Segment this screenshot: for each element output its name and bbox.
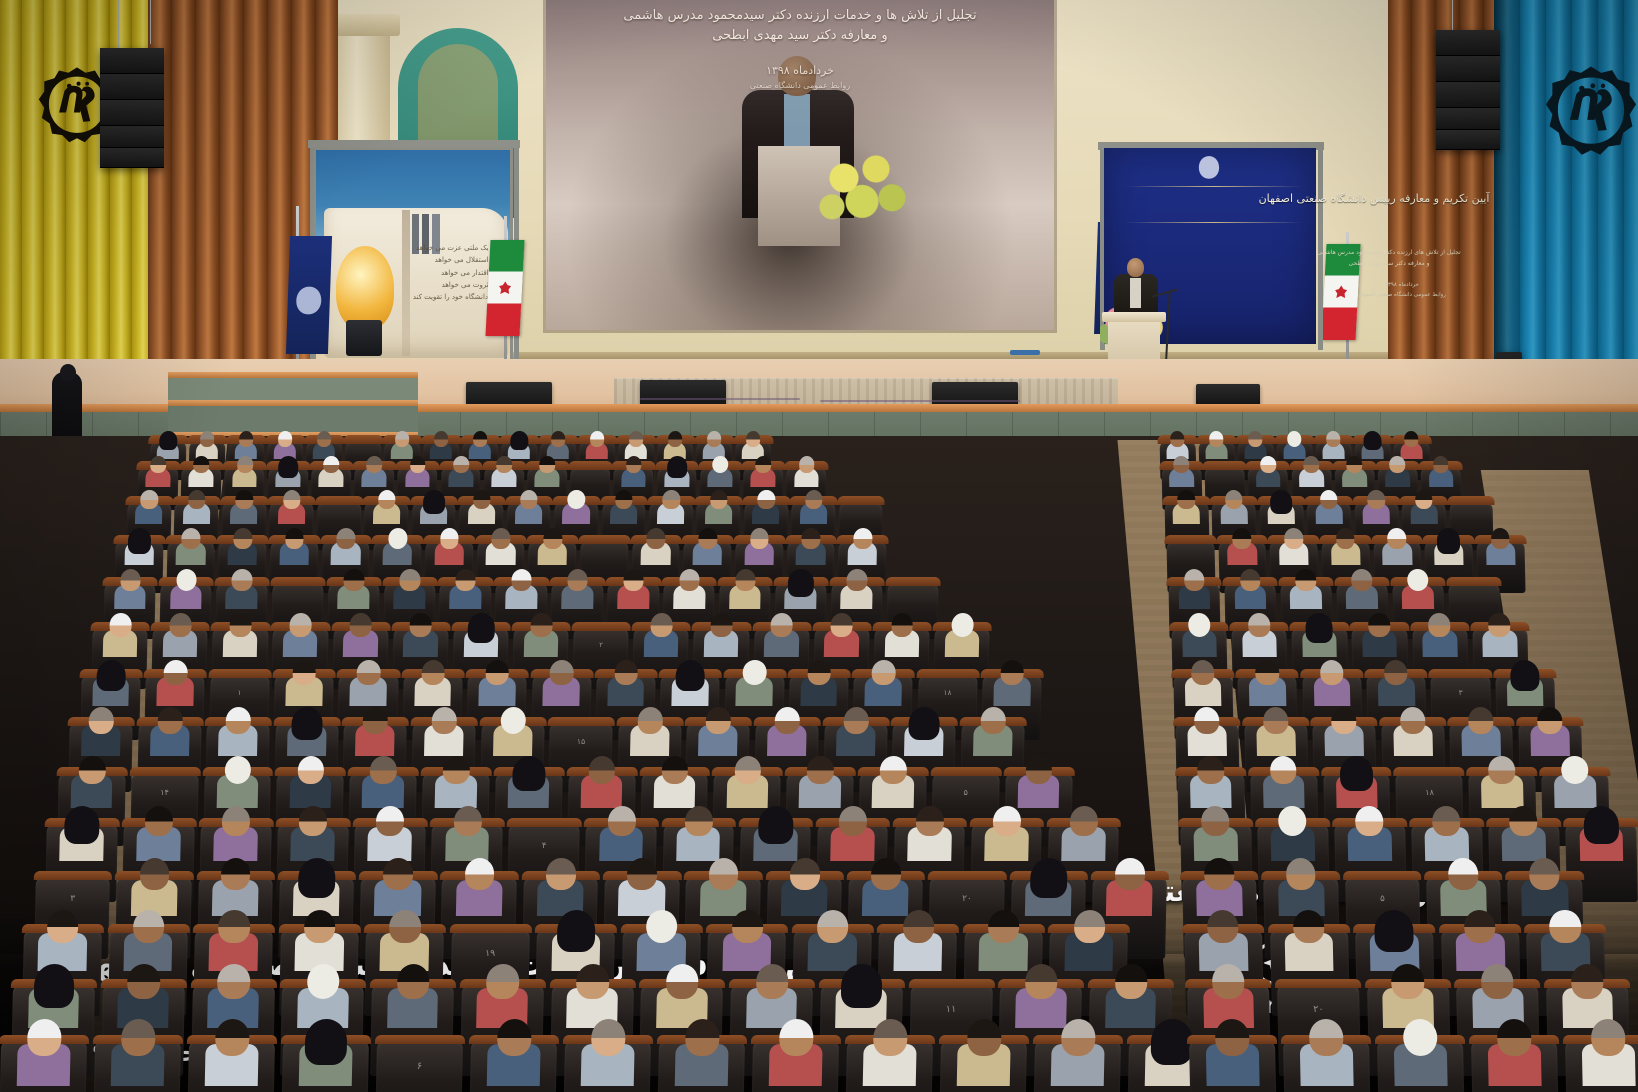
audience-member (515, 490, 543, 524)
audience-seat: ۴ (1377, 1040, 1465, 1092)
audience-member (905, 707, 945, 756)
audience-member-head (159, 431, 177, 450)
audience-member (124, 529, 154, 566)
audience-member (1267, 490, 1295, 524)
audience-member (283, 613, 318, 656)
audience-member-head (297, 755, 324, 784)
audience-seat: ۵ (1471, 1040, 1559, 1092)
audience-member-head (1367, 490, 1385, 509)
audience-member (92, 659, 130, 705)
audience-member (1196, 857, 1243, 915)
audience-member-head (871, 659, 895, 684)
audience-member-head (1308, 1019, 1343, 1056)
audience-member (1187, 707, 1227, 756)
audience-member-head (27, 1019, 62, 1056)
audience-member (214, 806, 259, 861)
audience-member (279, 529, 309, 566)
audience-member (319, 457, 344, 488)
audience-member (945, 613, 980, 656)
audience-member (434, 529, 464, 566)
audience-member (751, 457, 776, 488)
audience-member-head (1428, 613, 1450, 637)
banner-quote: اگر یک ملتی عزت می خواهد اگر استقلال می … (408, 242, 500, 303)
audience-member (505, 570, 538, 610)
audience-member (625, 431, 648, 459)
audience-member (785, 570, 818, 610)
audience-member-head (1061, 1019, 1096, 1056)
audience-member (1346, 570, 1379, 610)
seat-number: ۳ (1431, 688, 1490, 697)
stage-cable (820, 400, 1020, 402)
audience-member (380, 910, 430, 971)
audience-member (391, 431, 414, 459)
audience-member-head (615, 490, 633, 509)
audience-member-head (879, 755, 906, 784)
audience-member (653, 755, 695, 807)
audience-member (993, 659, 1031, 705)
audience-member (1248, 659, 1286, 705)
audience-member-head (588, 755, 615, 784)
audience-seat: ۲ (1189, 1040, 1277, 1092)
audience-member (183, 490, 211, 524)
audience-member (343, 613, 378, 656)
audience-member (780, 857, 827, 915)
audience-member (1578, 806, 1623, 861)
audience-member (204, 1019, 259, 1086)
audience-member (753, 806, 798, 861)
audience-member-head (1490, 529, 1509, 549)
audience-member (393, 570, 426, 610)
audience-member-head (1208, 910, 1240, 944)
audience-member (27, 964, 79, 1028)
audience-member-head (550, 659, 574, 684)
audience-member-head (789, 857, 819, 889)
quote-line: اگر استقلال می خواهد (408, 254, 500, 266)
audience-member (211, 857, 258, 915)
audience-member-head (1248, 431, 1263, 446)
audience-member (872, 755, 914, 807)
audience-seat: ۱۴ (751, 1040, 839, 1092)
audience-member (1227, 529, 1257, 566)
audience-member (799, 755, 841, 807)
stair-nosing (168, 372, 418, 378)
banner-lightbulb-base (346, 320, 382, 356)
audience-member (704, 613, 739, 656)
audience-member (467, 490, 495, 524)
audience-member-head (455, 570, 476, 592)
audience-member-head (1000, 659, 1024, 684)
audience-member-head (33, 964, 75, 1008)
audience-member (671, 659, 709, 705)
audience-member (16, 1019, 71, 1086)
audience-member-head (1436, 529, 1460, 554)
audience-member-head (840, 964, 882, 1008)
audience-member-head (306, 964, 339, 999)
audience-member-head (467, 613, 495, 643)
rigging-wire (1452, 0, 1453, 30)
audience-member (492, 457, 517, 488)
audience-member (848, 529, 878, 566)
seat-number: ۲۰ (929, 894, 1004, 904)
audience-member (216, 755, 258, 807)
speaker-shirt (1130, 278, 1141, 308)
audience-member (1424, 806, 1469, 861)
audience-member (1166, 431, 1189, 459)
seat-number: ۱۹ (451, 949, 530, 960)
seat-row: ۲۳۴۵۶ (1189, 1040, 1638, 1092)
audience-member (146, 457, 171, 488)
audience-member-head (1326, 431, 1341, 446)
audience-member (1455, 910, 1505, 971)
audience-member (862, 857, 909, 915)
seat-number: ۵ (1345, 894, 1420, 904)
audience-member-head (1489, 755, 1516, 784)
audience-member-head (831, 613, 853, 637)
audience-member (1409, 490, 1437, 524)
audience-member (586, 431, 609, 459)
audience-member (1017, 755, 1059, 807)
audience-member (561, 570, 594, 610)
audience-member-head (1278, 806, 1307, 836)
audience-member-head (486, 964, 519, 999)
projection-subtext: خردادماه ۱۳۹۸ روابط عمومی دانشگاه صنعتی (546, 62, 1054, 92)
audience-member (637, 910, 687, 971)
audience-member (835, 964, 887, 1028)
audience-member-head (711, 613, 733, 637)
audience-member (356, 707, 396, 756)
stair-nosing (168, 400, 418, 406)
audience-member (293, 857, 340, 915)
audience-member (110, 1019, 165, 1086)
audience-member-head (1529, 857, 1559, 889)
audience-member-head (356, 659, 380, 684)
audience-member-head (1115, 857, 1145, 889)
iranian-flag (485, 240, 524, 336)
audience-member-head (661, 755, 688, 784)
audience-seat: ۱۱ (469, 1040, 557, 1092)
audience-member (1530, 707, 1570, 756)
audience-member (1362, 490, 1390, 524)
audience-member (621, 457, 646, 488)
audience-member-head (627, 857, 657, 889)
audience-member-head (511, 570, 532, 592)
backdrop-divider (1126, 222, 1302, 223)
audience-member-head (805, 490, 823, 509)
audience-member-head (1590, 1019, 1625, 1056)
iut-gear-emblem-icon (1196, 154, 1222, 186)
audience-member-head (304, 910, 336, 944)
audience-member-head (473, 490, 491, 509)
audience-member (170, 570, 203, 610)
audience-member-head (1391, 964, 1424, 999)
audience-member-head (520, 490, 538, 509)
audience-member-head (651, 613, 673, 637)
audience-member (705, 490, 733, 524)
audience-member (1106, 857, 1153, 915)
audience-member-head (224, 755, 251, 784)
audience-member-head (235, 490, 253, 509)
audience-member-head (1209, 431, 1224, 446)
audience-member (493, 707, 533, 756)
audience-member-head (1510, 659, 1540, 691)
audience-member-head (817, 910, 849, 944)
audience-member-head (497, 1019, 532, 1056)
audience-member (404, 613, 439, 656)
seat-number: ۱۸ (918, 688, 977, 697)
audience-seat: ۴ (187, 1040, 275, 1092)
iut-gear-emblem-icon (1545, 62, 1637, 174)
audience-member (486, 529, 516, 566)
seat-number: ۱۵ (550, 737, 613, 746)
audience-member (278, 490, 306, 524)
audience-member-head (1255, 659, 1279, 684)
audience-member (1064, 910, 1114, 971)
audience-member (1104, 964, 1156, 1028)
audience-member (156, 659, 194, 705)
audience-member (287, 707, 327, 756)
seat-number: ۱ (210, 688, 269, 697)
podium-top (1102, 312, 1166, 322)
audience-member-head (512, 755, 546, 791)
audience-member (1393, 707, 1433, 756)
audience-member (1014, 964, 1066, 1028)
audience-member (1402, 570, 1435, 610)
audience-member-head (1270, 490, 1292, 513)
audience-member (864, 659, 902, 705)
audience-member (580, 1019, 635, 1086)
event-photograph: تجلیل از تلاش ها و خدمات ارزنده دکتر سید… (0, 0, 1638, 1092)
audience-member (176, 529, 206, 566)
audience-member-head (432, 707, 458, 734)
audience-member (1270, 806, 1315, 861)
audience-member-head (871, 857, 901, 889)
audience-member (674, 1019, 729, 1086)
audience-member (386, 964, 438, 1028)
line-array-speaker (1436, 30, 1500, 150)
backdrop-credit: روابط عمومی دانشگاه صنعتی اصفهان (1180, 290, 1624, 300)
audience-member-head (873, 1019, 908, 1056)
audience-member-head (685, 1019, 720, 1056)
audience-member-head (638, 707, 664, 734)
audience-member (767, 707, 807, 756)
audience-member-head (1177, 490, 1195, 509)
audience-member (157, 431, 180, 459)
audience-member (362, 457, 387, 488)
audience-member (1256, 457, 1281, 488)
speaker-head (1127, 258, 1144, 277)
seat-number: ۱۸ (1397, 788, 1464, 797)
audience-member (796, 529, 826, 566)
audience-member-head (1284, 529, 1303, 549)
audience-member (543, 659, 581, 705)
projection-line-1: تجلیل از تلاش ها و خدمات ارزنده دکتر سید… (576, 6, 1024, 26)
audience-member (1347, 806, 1392, 861)
audience-member-head (1070, 806, 1099, 836)
audience-member-head (145, 806, 174, 836)
audience-member-head (216, 964, 249, 999)
audience-member-head (1263, 707, 1289, 734)
audience-member (665, 457, 690, 488)
audience-member-head (1340, 755, 1374, 791)
audience-member (424, 707, 464, 756)
audience-member (726, 755, 768, 807)
audience-member-head (662, 490, 680, 509)
iut-gear-emblem-icon (292, 284, 325, 324)
projection-credit: روابط عمومی دانشگاه صنعتی (546, 80, 1054, 93)
audience-member-head (220, 857, 250, 889)
audience-member-head (1496, 1019, 1531, 1056)
audience-member (374, 857, 421, 915)
side-banner-book-lightbulb: اگر یک ملتی عزت می خواهد اگر استقلال می … (313, 147, 513, 365)
audience-member-head (1355, 806, 1384, 836)
audience-member (445, 806, 490, 861)
audience-member (1199, 910, 1249, 971)
audience-member (800, 659, 838, 705)
audience-member (1361, 431, 1384, 459)
audience-seat: ۱۵ (845, 1040, 933, 1092)
audience-member-head (1024, 964, 1057, 999)
backdrop-sub: تجلیل از تلاش های ارزنده دکتر سیدمحمود م… (1148, 248, 1630, 270)
audience-seat: ۱۹ (1033, 1040, 1121, 1092)
audience-member (580, 755, 622, 807)
audience-member-head (163, 659, 187, 684)
audience-member (285, 659, 323, 705)
audience-member (1377, 659, 1415, 705)
audience-member-head (128, 529, 152, 554)
banner-lightbulb-art (336, 246, 394, 330)
audience-member-head (734, 755, 761, 784)
audience-member-head (1174, 457, 1190, 474)
seat-number: ۱۴ (131, 788, 198, 797)
audience-member (736, 659, 774, 705)
audience-member-head (1187, 613, 1209, 637)
audience-member-head (1211, 964, 1244, 999)
audience-member (729, 570, 762, 610)
audience-member (130, 857, 177, 915)
audience-member (209, 910, 259, 971)
audience-member (657, 490, 685, 524)
audience-member (1485, 529, 1515, 566)
audience-member-head (96, 659, 126, 691)
audience-member (1521, 857, 1568, 915)
audience-member-head (1303, 457, 1319, 474)
audience-member (1284, 910, 1334, 971)
audience-member (699, 707, 739, 756)
audience-member (38, 910, 88, 971)
audience-member (163, 613, 198, 656)
seat-number: ۶ (376, 1061, 462, 1072)
audience-member-head (1414, 490, 1432, 509)
audience-member (1178, 570, 1211, 610)
line-array-speaker (100, 48, 164, 168)
audience-member-head (139, 857, 169, 889)
audience-member-head (710, 490, 728, 509)
audience-member-head (1387, 529, 1406, 549)
audience-member-head (916, 806, 945, 836)
audience-member (123, 910, 173, 971)
audience-member-head (64, 806, 100, 844)
audience-member (189, 457, 214, 488)
audience-member-head (679, 570, 700, 592)
audience-member (1172, 490, 1200, 524)
audience-member (1434, 529, 1464, 566)
audience-member (630, 707, 670, 756)
audience-member-head (1170, 431, 1185, 446)
audience-member (405, 457, 430, 488)
audience-member (524, 613, 559, 656)
audience-member (1205, 431, 1228, 459)
audience-member (840, 570, 873, 610)
audience-member-head (567, 570, 588, 592)
audience-member (114, 570, 147, 610)
audience-member-head (981, 707, 1007, 734)
audience-member-head (902, 910, 934, 944)
audience-member-head (1214, 1019, 1249, 1056)
audience-member (295, 910, 345, 971)
audience-member (1244, 431, 1267, 459)
audience-member-head (1432, 806, 1461, 836)
audience-member-head (1194, 707, 1220, 734)
audience-member-head (1191, 659, 1215, 684)
stage-monitor-speaker (1196, 384, 1260, 406)
audience-member (60, 806, 105, 861)
audience-member (1278, 529, 1308, 566)
audience-member-head (843, 707, 869, 734)
audience-member (742, 431, 765, 459)
audience-member-head (1550, 910, 1582, 944)
audience-member-head (299, 806, 328, 836)
attendee-head (60, 364, 76, 381)
audience-member (984, 806, 1029, 861)
audience-member-head (1335, 529, 1354, 549)
audience-member (708, 457, 733, 488)
audience-member-head (1509, 806, 1538, 836)
audience-member-head (1073, 910, 1105, 944)
seat-number: ۱۱ (909, 1004, 991, 1015)
audience-member (644, 613, 679, 656)
audience-member-head (591, 1019, 626, 1056)
audience-member (1061, 806, 1106, 861)
audience-seat: ۳ (93, 1040, 181, 1092)
audience-member-head (556, 910, 596, 952)
audience-member-head (421, 659, 445, 684)
attendee-standing (52, 372, 82, 440)
audience-member (507, 755, 549, 807)
audience-member (907, 806, 952, 861)
audience-member-head (1384, 659, 1408, 684)
audience-member-head (453, 806, 482, 836)
audience-member (291, 806, 336, 861)
audience-member-head (909, 707, 941, 741)
audience-member-head (1232, 529, 1251, 549)
audience-member (956, 1019, 1011, 1086)
audience-member (1290, 570, 1323, 610)
seat-number: ۲۰ (1277, 1004, 1359, 1015)
audience-member (1330, 529, 1360, 566)
audience-member (1190, 755, 1232, 807)
audience-member-head (1375, 910, 1415, 952)
audience-member (764, 613, 799, 656)
audience-member (1385, 457, 1410, 488)
audience-member (1581, 1019, 1636, 1086)
audience-member-head (708, 857, 738, 889)
audience-member (469, 431, 492, 459)
audience-member (800, 490, 828, 524)
audience-member (135, 490, 163, 524)
audience-member (313, 431, 336, 459)
audience-member-head (788, 570, 814, 598)
audience-member (1263, 755, 1305, 807)
